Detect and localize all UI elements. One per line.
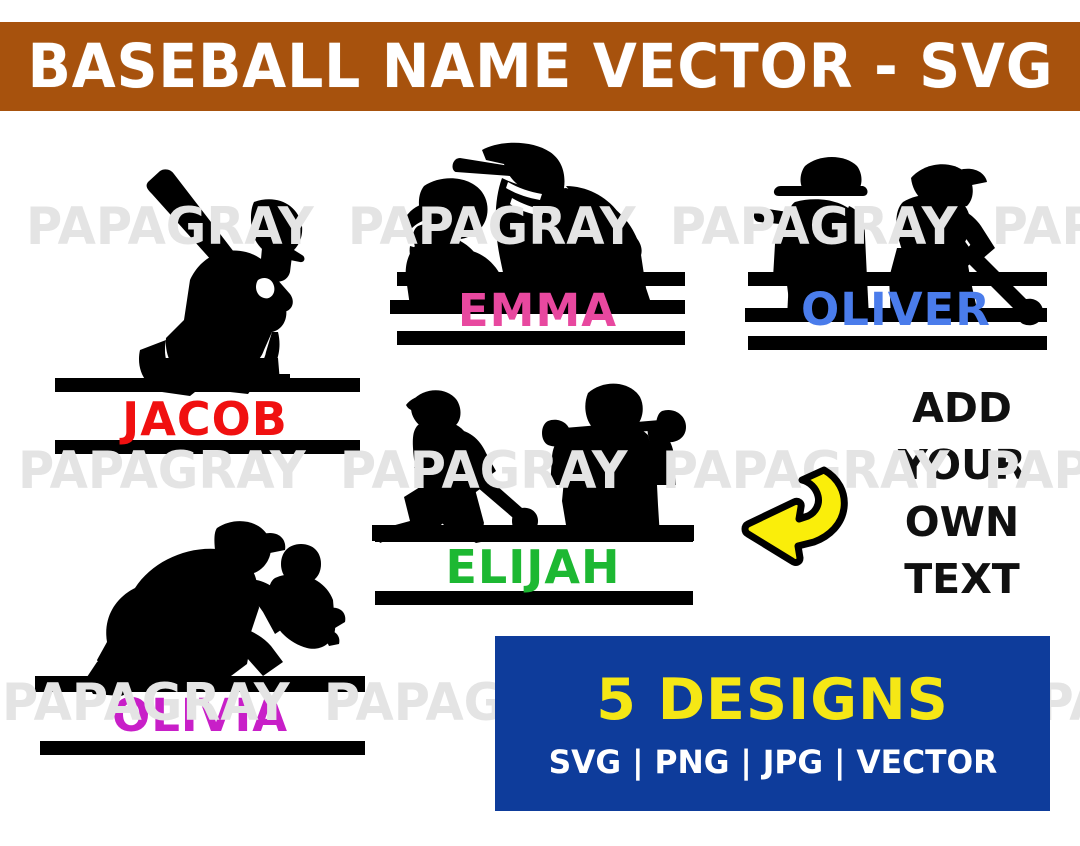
cta-line-3: OWN xyxy=(862,494,1062,551)
cta-line-2: YOUR xyxy=(862,437,1062,494)
designs-formats-label: SVG | PNG | JPG | VECTOR xyxy=(548,743,997,781)
cta-line-4: TEXT xyxy=(862,551,1062,608)
design-name-emma: EMMA xyxy=(390,284,685,337)
page-title: BASEBALL NAME VECTOR - SVG xyxy=(27,31,1053,102)
design-card-emma[interactable]: EMMA xyxy=(390,138,685,348)
design-bar-top xyxy=(55,378,360,392)
design-card-olivia[interactable]: OLIVIA xyxy=(35,512,365,762)
poster-canvas: BASEBALL NAME VECTOR - SVG xyxy=(0,0,1080,846)
header-banner: BASEBALL NAME VECTOR - SVG xyxy=(0,22,1080,111)
design-name-jacob: JACOB xyxy=(40,392,370,446)
designs-count-label: 5 DESIGNS xyxy=(596,667,949,733)
design-name-oliver: OLIVER xyxy=(745,283,1047,336)
curved-arrow-left-icon xyxy=(738,462,856,567)
design-card-oliver[interactable]: OLIVER xyxy=(745,148,1047,353)
design-card-elijah[interactable]: ELIJAH xyxy=(372,375,694,615)
design-bar-bottom xyxy=(40,741,365,755)
design-card-jacob[interactable]: JACOB xyxy=(40,160,370,460)
cta-line-1: ADD xyxy=(862,380,1062,437)
designs-badge: 5 DESIGNS SVG | PNG | JPG | VECTOR xyxy=(495,636,1050,811)
design-name-olivia: OLIVIA xyxy=(35,689,365,742)
design-name-elijah: ELIJAH xyxy=(372,540,694,594)
call-to-action-text: ADD YOUR OWN TEXT xyxy=(862,380,1062,608)
design-bar-bottom xyxy=(748,336,1047,350)
